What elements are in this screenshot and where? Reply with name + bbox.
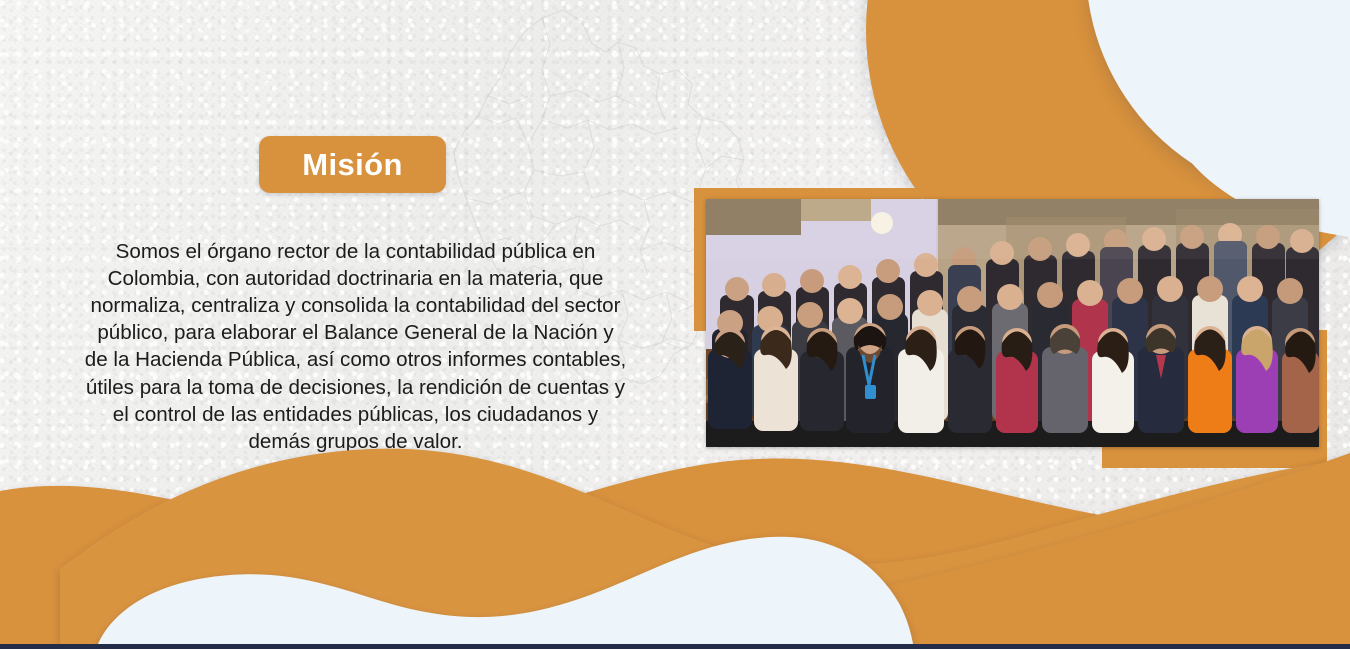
mission-badge-label: Misión	[302, 147, 403, 183]
slide-canvas: Misión Somos el órgano rector de la cont…	[0, 0, 1350, 649]
mission-badge: Misión	[259, 136, 446, 193]
bottom-navy-bar	[0, 644, 1350, 649]
bottom-wave-decoration	[0, 419, 1350, 649]
group-photo-image	[706, 199, 1319, 447]
